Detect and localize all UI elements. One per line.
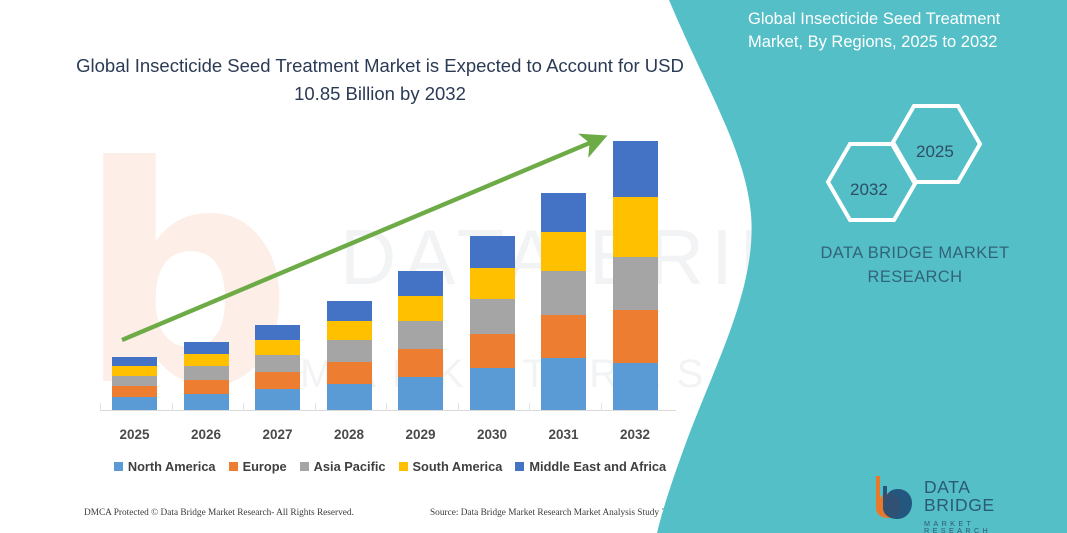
- legend-item[interactable]: Middle East and Africa: [515, 459, 666, 474]
- legend-swatch-icon: [300, 462, 309, 471]
- infographic-canvas: b DATA BRIDGE MARKET RESEARCH Global Ins…: [0, 0, 1067, 533]
- footer: DMCA Protected © Data Bridge Market Rese…: [0, 508, 700, 526]
- panel-brand-text: DATA BRIDGE MARKET RESEARCH: [790, 242, 1040, 290]
- chart-plot-area: 20252026202720282029203020312032: [0, 0, 710, 533]
- legend-label: South America: [413, 459, 503, 474]
- footer-copyright: DMCA Protected © Data Bridge Market Rese…: [84, 508, 354, 518]
- logo-text: DATA BRIDGE MARKET RESEARCH: [924, 479, 1041, 533]
- legend-item[interactable]: South America: [399, 459, 503, 474]
- logo-name-bottom: MARKET RESEARCH: [924, 520, 1041, 533]
- hexagon-badges: 2025 2032: [818, 98, 1018, 226]
- chart-legend: North AmericaEuropeAsia PacificSouth Ame…: [100, 459, 680, 474]
- legend-swatch-icon: [114, 462, 123, 471]
- panel-brand-line2: RESEARCH: [790, 266, 1040, 290]
- legend-swatch-icon: [229, 462, 238, 471]
- logo-mark-icon: [866, 474, 918, 520]
- growth-arrow: [0, 0, 710, 440]
- legend-swatch-icon: [515, 462, 524, 471]
- hexagon-label-start: 2025: [916, 142, 954, 162]
- logo-name-top: DATA BRIDGE: [924, 479, 1041, 514]
- legend-item[interactable]: Asia Pacific: [300, 459, 386, 474]
- hexagon-label-end: 2032: [850, 180, 888, 200]
- legend-label: Middle East and Africa: [529, 459, 666, 474]
- panel-brand-line1: DATA BRIDGE MARKET: [790, 242, 1040, 266]
- legend-swatch-icon: [399, 462, 408, 471]
- company-logo: DATA BRIDGE MARKET RESEARCH: [866, 474, 1041, 522]
- legend-label: North America: [128, 459, 216, 474]
- panel-title: Global Insecticide Seed Treatment Market…: [748, 8, 1053, 55]
- legend-label: Asia Pacific: [314, 459, 386, 474]
- legend-label: Europe: [243, 459, 287, 474]
- legend-item[interactable]: Europe: [229, 459, 287, 474]
- legend-item[interactable]: North America: [114, 459, 216, 474]
- footer-source: Source: Data Bridge Market Research Mark…: [430, 508, 680, 518]
